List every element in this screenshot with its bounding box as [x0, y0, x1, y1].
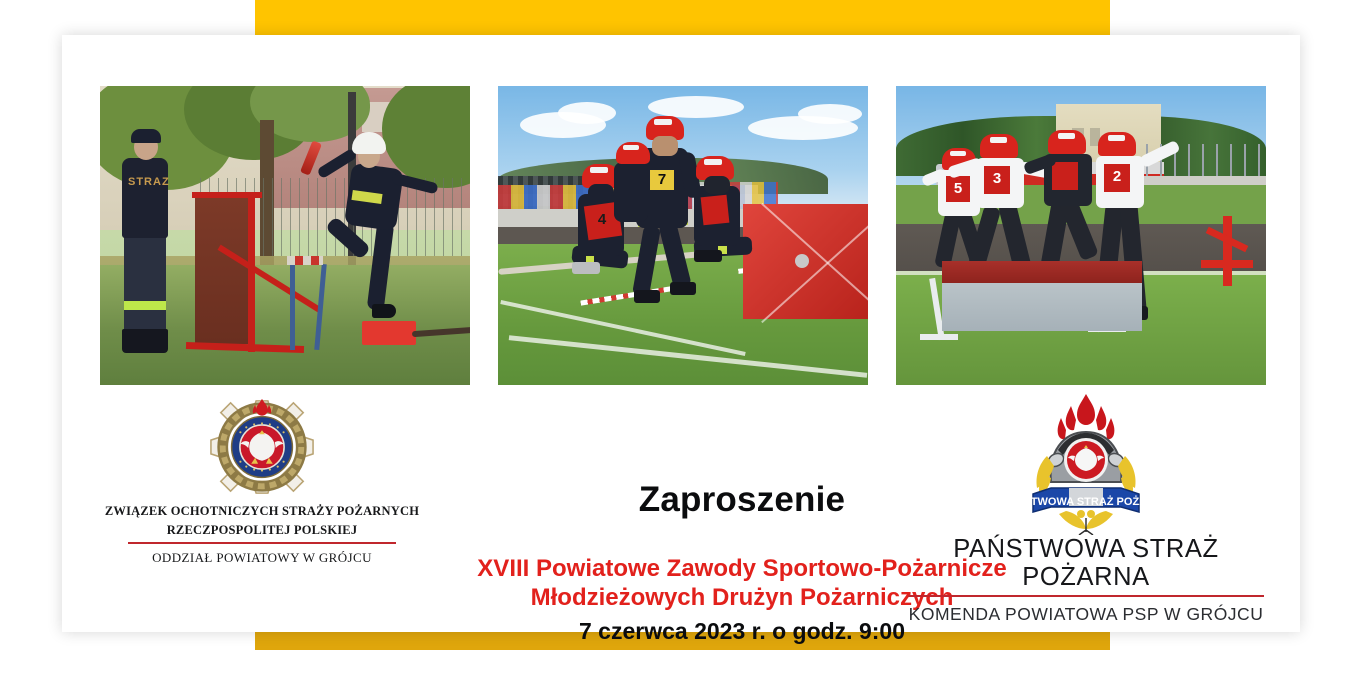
psp-line-2: KOMENDA POWIATOWA PSP W GRÓJCU	[886, 604, 1286, 625]
accent-bar-top	[255, 0, 1110, 35]
photo3-bib-number-blank	[1052, 162, 1078, 190]
photo3-red-frame	[1201, 216, 1253, 288]
logo-psp-block: PAŃSTWOWA STRAŻ POŻARNA PAŃSTWOWA STRAŻ …	[886, 390, 1286, 625]
photo-strip: STRAZ	[100, 86, 1266, 385]
photo3-bib-number-5: 5	[946, 176, 970, 202]
zosp-divider	[128, 542, 396, 544]
invitation-card: STRAZ	[62, 35, 1300, 632]
poster-stage: STRAZ	[0, 0, 1362, 686]
photo3-bib-number-2: 2	[1104, 164, 1130, 192]
photo-hose-line-relay: 7 4	[498, 86, 868, 385]
psp-divider	[908, 595, 1264, 597]
photo-obstacle-wall-jump: STRAZ	[100, 86, 470, 385]
photo1-straz-text: STRAZ	[128, 176, 170, 188]
bottom-section: ZWIĄZEK OCHOTNICZYCH STRAŻY POŻARNYCH RZ…	[62, 390, 1300, 630]
zosp-rp-emblem	[203, 393, 321, 501]
psp-line-1: PAŃSTWOWA STRAŻ POŻARNA	[886, 535, 1286, 591]
psp-banner-text: PAŃSTWOWA STRAŻ POŻARNA	[1011, 495, 1161, 508]
photo3-bib-number-3: 3	[984, 166, 1010, 194]
photo-barrier-jump: 5 3	[896, 86, 1266, 385]
photo2-bib-number-4: 4	[590, 210, 614, 230]
psp-emblem: PAŃSTWOWA STRAŻ POŻARNA	[1011, 390, 1161, 535]
photo2-bib-number-7: 7	[650, 170, 674, 190]
